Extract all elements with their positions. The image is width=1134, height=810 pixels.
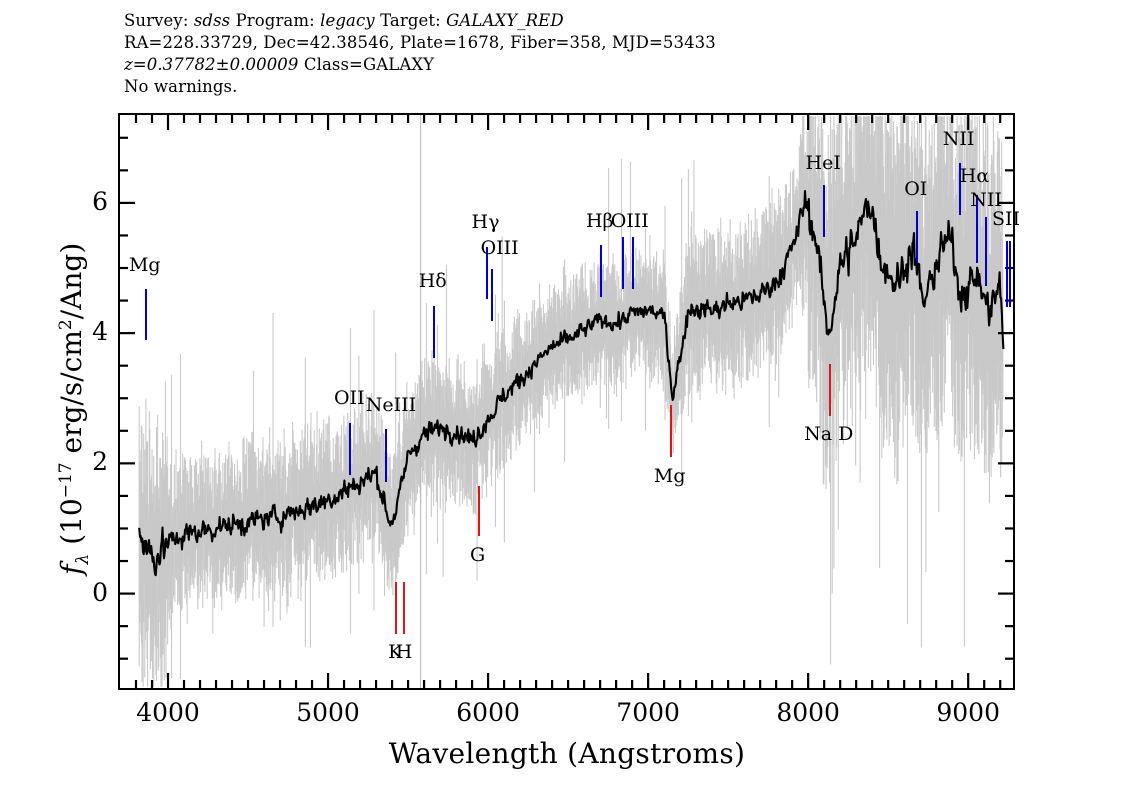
spectral-line-marker-hei-13 xyxy=(823,185,825,237)
spectral-line-marker-nad-14 xyxy=(829,364,831,416)
spectral-line-label: Hα xyxy=(960,165,989,187)
spectral-line-marker-oi-15 xyxy=(916,211,918,263)
spectrum-plot-frame xyxy=(118,113,1015,690)
spectral-line-label: SII xyxy=(992,208,1020,230)
spectral-line-label: NII xyxy=(943,128,975,150)
header-line-warnings: No warnings. xyxy=(124,76,1024,98)
survey-value: sdss xyxy=(194,11,230,30)
x-axis-title: Wavelength (Angstroms) xyxy=(0,737,1134,770)
program-value: legacy xyxy=(320,11,375,30)
redshift-value: z=0.37782±0.00009 xyxy=(124,55,299,74)
spectral-line-label: Mg xyxy=(129,254,161,276)
spectral-line-marker-h-5 xyxy=(433,306,435,358)
spectrum-canvas xyxy=(120,115,1013,688)
spectral-line-label: OI xyxy=(904,178,927,200)
metadata-header: Survey: sdss Program: legacy Target: GAL… xyxy=(124,10,1024,98)
program-prefix-label: Program: xyxy=(230,11,320,30)
spectral-line-marker-oii-1 xyxy=(349,423,351,475)
spectral-line-marker-mg-9 xyxy=(670,405,672,457)
spectral-line-label: Hγ xyxy=(472,211,500,233)
spectral-line-marker-k-3 xyxy=(395,582,397,634)
spectral-line-marker-g-6 xyxy=(478,486,480,536)
spectral-line-marker-oiii-8 xyxy=(491,269,493,321)
spectral-line-label: NeIII xyxy=(366,394,416,416)
x-tick-label: 7000 xyxy=(588,698,708,727)
spectral-line-label: HeI xyxy=(806,152,841,174)
x-tick-label: 6000 xyxy=(428,698,548,727)
header-line-survey: Survey: sdss Program: legacy Target: GAL… xyxy=(124,10,1024,32)
x-tick-label: 9000 xyxy=(908,698,1028,727)
spectral-line-label: OII xyxy=(334,387,365,409)
y-axis-title: fλ (10−17 erg/s/cm2/Ang) xyxy=(55,89,93,729)
target-prefix-label: Target: xyxy=(375,11,446,30)
header-line-coordinates: RA=228.33729, Dec=42.38546, Plate=1678, … xyxy=(124,32,1024,54)
spectral-line-label: Na D xyxy=(804,423,853,445)
spectral-line-marker-mg-0 xyxy=(145,289,147,340)
spectral-line-label: Mg xyxy=(654,465,686,487)
spectral-line-marker-h-4 xyxy=(403,582,405,634)
spectral-line-marker-x-20 xyxy=(1009,241,1011,307)
spectral-line-marker-h-10 xyxy=(600,245,602,297)
spectral-line-label: OIII xyxy=(611,210,649,232)
survey-prefix-label: Survey: xyxy=(124,11,194,30)
x-tick-label: 4000 xyxy=(108,698,228,727)
target-value: GALAXY_RED xyxy=(446,11,564,30)
spectral-line-label: Hδ xyxy=(419,270,447,292)
x-tick-label: 5000 xyxy=(268,698,388,727)
x-tick-label: 8000 xyxy=(748,698,868,727)
spectral-line-marker-oiii-11 xyxy=(622,237,624,289)
header-line-redshift: z=0.37782±0.00009 Class=GALAXY xyxy=(124,54,1024,76)
spectral-line-label: G xyxy=(470,544,485,566)
spectral-line-label: OIII xyxy=(481,237,519,259)
spectral-line-label: H xyxy=(396,641,413,663)
spectral-line-marker-neiii-2 xyxy=(385,429,387,481)
class-value: Class=GALAXY xyxy=(299,55,435,74)
spectral-line-marker-nii-18 xyxy=(985,217,987,286)
spectrum-svg xyxy=(120,115,1013,688)
spectral-line-marker-x-12 xyxy=(632,237,634,289)
spectral-line-label: Hβ xyxy=(586,210,614,232)
